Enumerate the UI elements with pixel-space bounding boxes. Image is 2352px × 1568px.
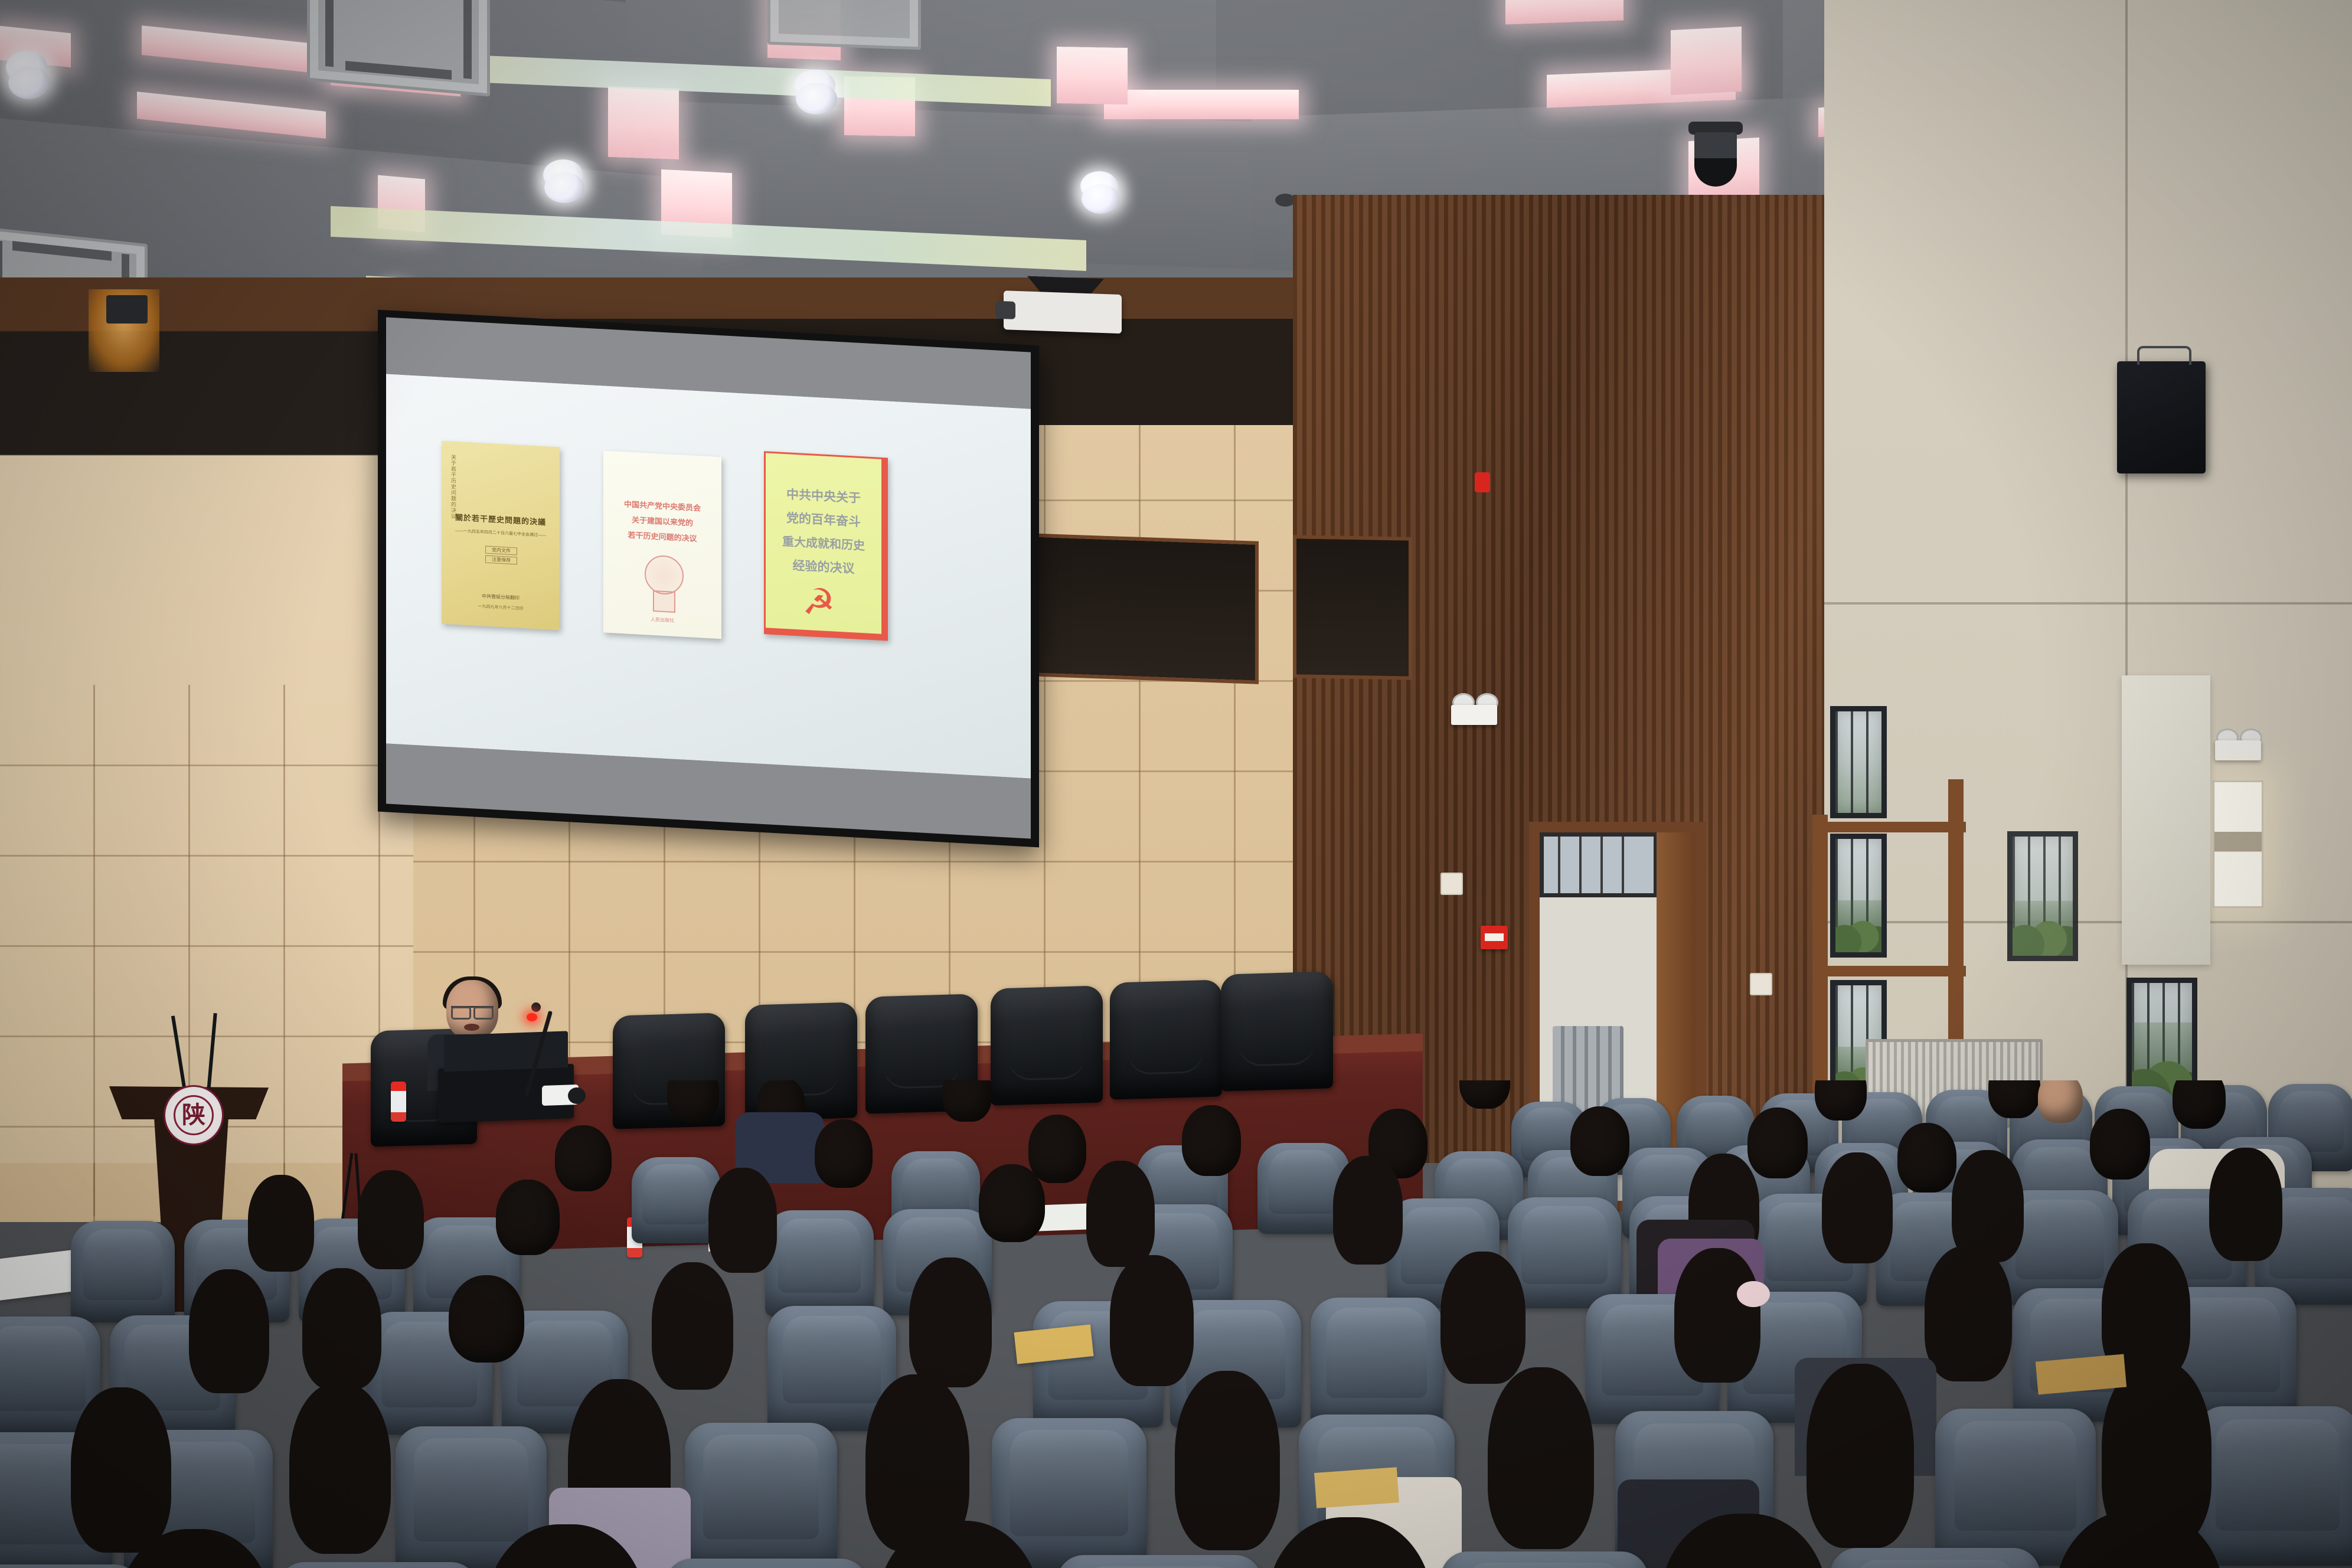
doc-right-title-line-1: 中共中央关于 bbox=[770, 484, 877, 508]
audience-head bbox=[358, 1170, 424, 1269]
doc-left-date: 一九四九年六月十二日印 bbox=[446, 602, 555, 613]
auditorium-seat[interactable] bbox=[1057, 1555, 1262, 1568]
wall-panel-insert bbox=[1293, 535, 1412, 680]
audience-head bbox=[2038, 1080, 2083, 1123]
audience-head bbox=[1175, 1371, 1280, 1550]
audience-head bbox=[708, 1168, 777, 1273]
doc-mid-seal-icon bbox=[645, 554, 684, 596]
stone-seam bbox=[1824, 602, 2352, 605]
microphone-led-icon bbox=[527, 1013, 537, 1021]
left-ceiling-speaker-icon bbox=[106, 295, 148, 324]
audience-head bbox=[1110, 1255, 1194, 1386]
ceiling-downlight bbox=[1082, 184, 1119, 214]
wall-sconce-light bbox=[2213, 780, 2263, 908]
auditorium-seat[interactable] bbox=[1830, 1548, 2040, 1568]
audience-head bbox=[1807, 1364, 1914, 1548]
doc-mid-publisher: 人民出版社 bbox=[608, 614, 717, 626]
slide-document-left: 关于若干历史问题的决议 關於若干歷史問題的決議 ——一九四五年四月二十日六届七中… bbox=[442, 441, 560, 631]
stone-seam bbox=[1824, 921, 2352, 923]
wall-panel-insert bbox=[1027, 533, 1259, 684]
auditorium-seat[interactable] bbox=[1440, 1551, 1648, 1568]
audience-head bbox=[1925, 1246, 2012, 1381]
window-pane bbox=[1830, 706, 1887, 818]
security-camera-icon bbox=[1688, 122, 1743, 187]
auditorium-seat[interactable] bbox=[1311, 1298, 1443, 1426]
audience-head bbox=[2209, 1148, 2282, 1261]
audience-head bbox=[652, 1262, 733, 1390]
auditorium-seat[interactable] bbox=[632, 1157, 720, 1243]
fire-alarm-icon[interactable] bbox=[1481, 926, 1508, 949]
ceiling-strip-light bbox=[1671, 27, 1742, 95]
ceiling-projector bbox=[1004, 275, 1133, 337]
audience-head bbox=[979, 1164, 1045, 1242]
ceiling-strip-light bbox=[1057, 47, 1128, 104]
audience-head bbox=[1028, 1115, 1086, 1183]
window-pane bbox=[1830, 834, 1887, 958]
doc-mid-title-line-2: 关于建国以来党的 bbox=[608, 512, 717, 530]
doc-mid-title-line-1: 中国共产党中央委员会 bbox=[608, 497, 717, 514]
audience-head bbox=[1440, 1252, 1525, 1384]
audience-head bbox=[449, 1275, 524, 1363]
window-mullion bbox=[1824, 966, 1966, 976]
ac-vent bbox=[307, 0, 490, 97]
audience-head bbox=[302, 1268, 381, 1390]
audience-head bbox=[1897, 1123, 1956, 1193]
audience-head bbox=[2173, 1080, 2226, 1129]
auditorium-seat[interactable] bbox=[71, 1221, 175, 1322]
ac-vent bbox=[767, 0, 921, 50]
ceiling-downlight bbox=[544, 172, 584, 203]
presenter-mouth bbox=[464, 1024, 479, 1031]
notebook bbox=[1314, 1467, 1399, 1508]
audience-head bbox=[1674, 1248, 1760, 1383]
auditorium-seat[interactable] bbox=[277, 1562, 478, 1568]
audience-head bbox=[1747, 1108, 1808, 1178]
wall-speaker bbox=[2117, 361, 2206, 473]
audience-head bbox=[1459, 1080, 1510, 1109]
window-pane bbox=[2007, 831, 2078, 961]
ceiling-strip-light bbox=[1505, 0, 1623, 24]
auditorium-photo: 关于若干历史问题的决议 關於若干歷史問題的決議 ——一九四五年四月二十日六届七中… bbox=[0, 0, 2352, 1568]
wall-outlet-icon bbox=[1440, 873, 1463, 895]
doc-left-main-title: 關於若干歷史問題的決議 bbox=[446, 511, 555, 528]
audience-head bbox=[909, 1257, 992, 1387]
emergency-light-icon bbox=[1451, 692, 1501, 729]
audience-head bbox=[2090, 1109, 2150, 1180]
doc-left-stamp-line-2: 注意保存 bbox=[485, 556, 517, 565]
ceiling-downlight bbox=[796, 83, 837, 115]
ceiling-downlight bbox=[8, 66, 50, 99]
audience-head bbox=[1086, 1161, 1155, 1267]
microphone-head-icon bbox=[531, 1002, 541, 1012]
audience-head bbox=[555, 1125, 612, 1191]
slide-document-right: 中共中央关于 党的百年奋斗 重大成就和历史 经验的决议 ☭ bbox=[764, 451, 888, 641]
hair-scrunchie bbox=[1737, 1281, 1770, 1307]
audience-area bbox=[0, 1080, 2352, 1568]
audience-head bbox=[815, 1119, 873, 1188]
auditorium-seat[interactable] bbox=[765, 1210, 874, 1317]
auditorium-seat[interactable] bbox=[1508, 1197, 1621, 1308]
audience-head bbox=[1822, 1152, 1893, 1263]
doc-left-side-note: 关于若干历史问题的决议 bbox=[450, 454, 458, 555]
doc-mid-seal-box-icon bbox=[653, 590, 675, 613]
stage-chair bbox=[1221, 971, 1333, 1091]
doc-mid-title-line-3: 若干历史问题的决议 bbox=[608, 528, 717, 545]
auditorium-seat[interactable] bbox=[0, 1564, 142, 1568]
audience-head bbox=[667, 1080, 719, 1123]
emergency-light-icon bbox=[2215, 727, 2265, 764]
audience-head bbox=[1988, 1080, 2040, 1118]
audience-head bbox=[71, 1387, 171, 1553]
audience-head bbox=[1815, 1080, 1867, 1121]
ceiling-strip-light bbox=[1104, 90, 1299, 119]
wall-outlet-icon bbox=[1750, 973, 1772, 995]
audience-head bbox=[1570, 1106, 1629, 1176]
ceiling-strip-light bbox=[608, 86, 679, 159]
audience-head bbox=[1333, 1156, 1403, 1265]
doc-left-subtitle: ——一九四五年四月二十日六届七中全会通过—— bbox=[446, 527, 555, 539]
audience-head bbox=[496, 1180, 560, 1255]
doc-right-title-line-2: 党的百年奋斗 bbox=[770, 508, 877, 531]
window-shade[interactable] bbox=[2122, 675, 2210, 965]
doc-left-stamp-line-1: 党内文件 bbox=[485, 546, 517, 556]
hammer-and-sickle-icon: ☭ bbox=[802, 584, 835, 622]
audience-head bbox=[248, 1175, 314, 1272]
audience-head bbox=[289, 1383, 391, 1554]
audience-head bbox=[1488, 1367, 1594, 1549]
slide-canvas: 关于若干历史问题的决议 關於若干歷史問題的決議 ——一九四五年四月二十日六届七中… bbox=[386, 374, 1031, 778]
presenter-glasses bbox=[451, 1006, 494, 1017]
doc-left-publisher: 中共晋绥分局翻印 bbox=[446, 591, 555, 603]
smoke-detector-icon bbox=[1275, 194, 1295, 207]
side-wall-stone bbox=[1824, 0, 2352, 1210]
slide-document-middle: 中国共产党中央委员会 关于建国以来党的 若干历史问题的决议 人民出版社 bbox=[603, 450, 721, 639]
auditorium-seat[interactable] bbox=[685, 1423, 837, 1568]
doc-right-title-line-4: 经验的决议 bbox=[770, 555, 877, 579]
window-mullion bbox=[1824, 822, 1966, 832]
auditorium-seat[interactable] bbox=[2196, 1406, 2352, 1566]
audience-head bbox=[1182, 1105, 1241, 1176]
audience-head bbox=[189, 1269, 269, 1393]
auditorium-seat[interactable] bbox=[665, 1559, 868, 1568]
doc-right-title-line-3: 重大成就和历史 bbox=[770, 531, 877, 554]
projection-screen: 关于若干历史问题的决议 關於若干歷史問題的決議 ——一九四五年四月二十日六届七中… bbox=[378, 310, 1039, 848]
audience-head bbox=[942, 1080, 992, 1122]
red-indicator-icon bbox=[1475, 472, 1490, 492]
